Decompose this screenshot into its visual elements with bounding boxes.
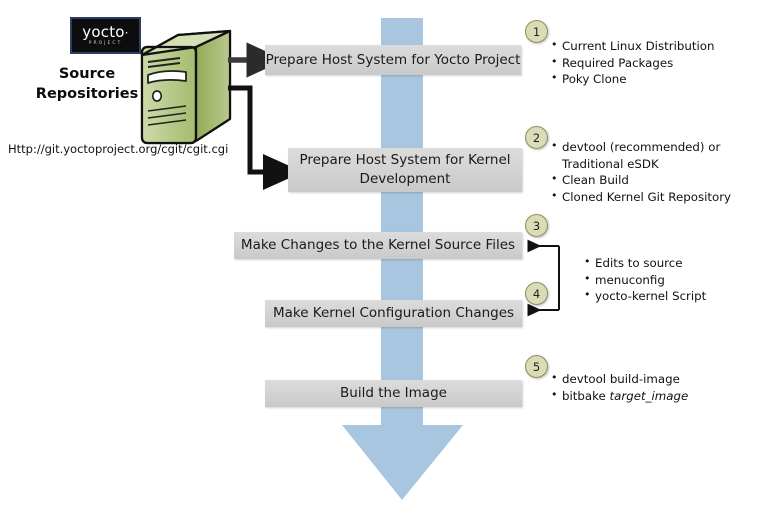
step-2-note-0-line1: devtool (recommended) or bbox=[562, 140, 720, 154]
diagram-canvas: yocto· PROJECT Source Repositories Http:… bbox=[0, 0, 769, 517]
step-5-notes: devtool build-image bitbake target_image bbox=[551, 371, 766, 404]
step-badge-5-number: 5 bbox=[533, 360, 540, 374]
step-badge-3-number: 3 bbox=[533, 219, 540, 233]
step-2-notes: devtool (recommended) or Traditional eSD… bbox=[551, 139, 766, 205]
list-item: Edits to source bbox=[584, 255, 764, 272]
list-item: Cloned Kernel Git Repository bbox=[551, 189, 766, 206]
step-3-4-notes-list: Edits to source menuconfig yocto-kernel … bbox=[584, 255, 764, 305]
process-box-prepare-host-kernel[interactable]: Prepare Host System for Kernel Developme… bbox=[288, 148, 522, 192]
list-item: bitbake target_image bbox=[551, 388, 766, 405]
step-badge-1-number: 1 bbox=[533, 25, 540, 39]
step-2-notes-list: devtool (recommended) or Traditional eSD… bbox=[551, 139, 766, 205]
step-2-note-0-line2: Traditional eSDK bbox=[562, 156, 766, 173]
list-item: yocto-kernel Script bbox=[584, 288, 764, 305]
list-item: Current Linux Distribution bbox=[551, 38, 766, 55]
box5-label: Build the Image bbox=[340, 384, 447, 403]
step-1-notes: Current Linux Distribution Required Pack… bbox=[551, 38, 766, 88]
step-5-bitbake-cmd: bitbake bbox=[562, 389, 610, 403]
step-badge-2: 2 bbox=[525, 126, 548, 149]
step-badge-1: 1 bbox=[525, 20, 548, 43]
step-badge-4-number: 4 bbox=[533, 287, 540, 301]
box4-label: Make Kernel Configuration Changes bbox=[273, 304, 514, 323]
step-3-4-shared-notes: Edits to source menuconfig yocto-kernel … bbox=[584, 255, 764, 305]
list-item: devtool (recommended) or Traditional eSD… bbox=[551, 139, 766, 172]
list-item: Clean Build bbox=[551, 172, 766, 189]
step-1-notes-list: Current Linux Distribution Required Pack… bbox=[551, 38, 766, 88]
step-badge-3: 3 bbox=[525, 214, 548, 237]
list-item: Required Packages bbox=[551, 55, 766, 72]
step-badge-4: 4 bbox=[525, 282, 548, 305]
step-badge-5: 5 bbox=[525, 355, 548, 378]
process-box-build-the-image[interactable]: Build the Image bbox=[265, 380, 522, 407]
feedback-bracket-arrows bbox=[515, 228, 585, 328]
process-box-prepare-host-yocto[interactable]: Prepare Host System for Yocto Project bbox=[265, 45, 521, 75]
box2-label-line2: Development bbox=[360, 171, 451, 187]
box1-label: Prepare Host System for Yocto Project bbox=[266, 51, 521, 70]
box2-label: Prepare Host System for Kernel Developme… bbox=[299, 151, 510, 189]
list-item: menuconfig bbox=[584, 272, 764, 289]
list-item: devtool build-image bbox=[551, 371, 766, 388]
box3-label: Make Changes to the Kernel Source Files bbox=[241, 236, 515, 255]
step-5-notes-list: devtool build-image bitbake target_image bbox=[551, 371, 766, 404]
step-5-bitbake-target: target_image bbox=[610, 389, 689, 403]
box2-label-line1: Prepare Host System for Kernel bbox=[299, 152, 510, 168]
process-box-make-kernel-source-changes[interactable]: Make Changes to the Kernel Source Files bbox=[234, 232, 522, 259]
list-item: Poky Clone bbox=[551, 71, 766, 88]
step-badge-2-number: 2 bbox=[533, 131, 540, 145]
process-box-make-kernel-config-changes[interactable]: Make Kernel Configuration Changes bbox=[265, 300, 522, 327]
